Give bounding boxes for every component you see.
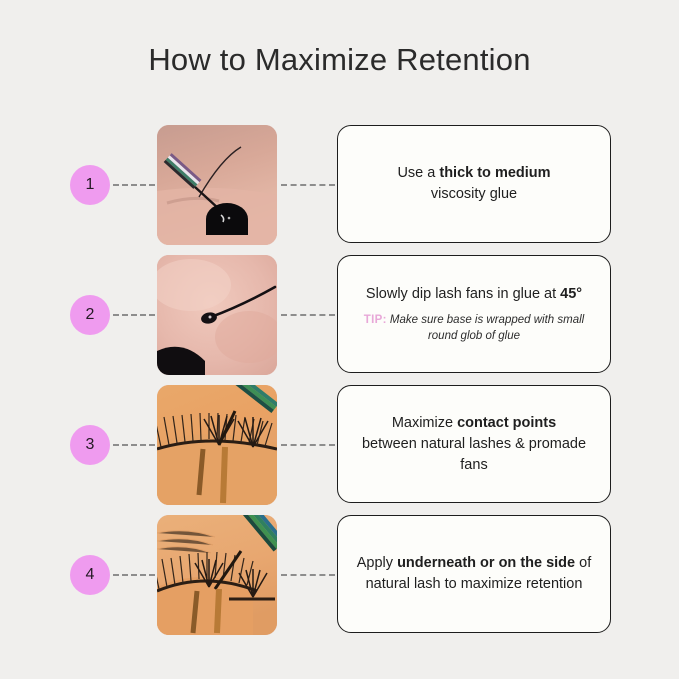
step-photo-3	[157, 385, 277, 505]
step-text-1: Use a thick to medium viscosity glue	[397, 163, 550, 205]
step-photo-1	[157, 125, 277, 245]
step-text-prefix: Maximize	[392, 415, 457, 431]
step-card-1: Use a thick to medium viscosity glue	[337, 125, 611, 243]
page-title: How to Maximize Retention	[0, 42, 679, 78]
connector-line-right	[281, 444, 335, 446]
step-photo-4	[157, 515, 277, 635]
step-row: 3	[0, 385, 679, 505]
step-text-prefix: Use a	[397, 165, 439, 181]
connector-line-right	[281, 574, 335, 576]
connector-line-left	[113, 184, 155, 186]
connector-line-left	[113, 314, 155, 316]
step-number-badge: 4	[70, 555, 110, 595]
step-text-bold: 45°	[560, 286, 582, 302]
step-row: 4	[0, 515, 679, 635]
steps-list: 1	[0, 125, 679, 645]
step-text-line2: between natural lashes & promade fans	[362, 436, 586, 473]
tip-text: Make sure base is wrapped with small rou…	[390, 314, 584, 342]
step-number-badge: 3	[70, 425, 110, 465]
connector-line-left	[113, 574, 155, 576]
step-text-line2: viscosity glue	[431, 186, 517, 202]
step-text-4: Apply underneath or on the side of natur…	[352, 553, 596, 595]
step-card-4: Apply underneath or on the side of natur…	[337, 515, 611, 633]
step-text-bold: thick to medium	[439, 165, 550, 181]
step-number-badge: 2	[70, 295, 110, 335]
step-tip-2: TIP: Make sure base is wrapped with smal…	[352, 312, 596, 344]
connector-line-left	[113, 444, 155, 446]
infographic-page: How to Maximize Retention 1	[0, 0, 679, 679]
step-text-bold: underneath or on the side	[397, 555, 575, 571]
step-text-3: Maximize contact points between natural …	[352, 413, 596, 476]
step-card-3: Maximize contact points between natural …	[337, 385, 611, 503]
step-card-2: Slowly dip lash fans in glue at 45° TIP:…	[337, 255, 611, 373]
step-text-prefix: Apply	[357, 555, 397, 571]
step-number-badge: 1	[70, 165, 110, 205]
step-photo-2	[157, 255, 277, 375]
step-text-2: Slowly dip lash fans in glue at 45°	[366, 284, 582, 305]
step-text-bold: contact points	[457, 415, 556, 431]
step-text-prefix: Slowly dip lash fans in glue at	[366, 286, 560, 302]
step-row: 2	[0, 255, 679, 375]
step-row: 1	[0, 125, 679, 245]
connector-line-right	[281, 314, 335, 316]
tip-label: TIP:	[364, 314, 387, 326]
connector-line-right	[281, 184, 335, 186]
